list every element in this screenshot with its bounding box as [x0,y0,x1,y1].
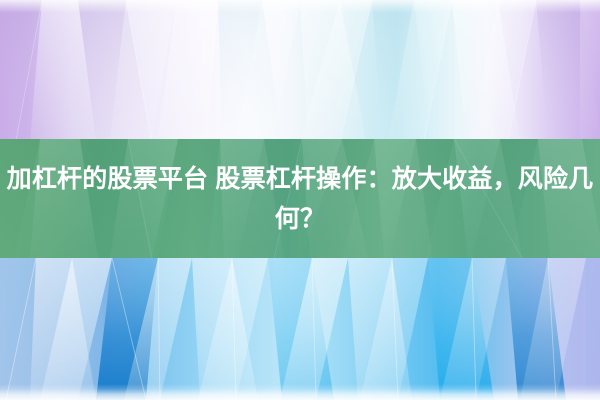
top-facet-pattern [0,0,600,141]
bottom-facet-pattern [0,258,600,400]
title-band: 加杠杆的股票平台 股票杠杆操作：放大收益，风险几何？ [0,139,600,258]
page-title: 加杠杆的股票平台 股票杠杆操作：放大收益，风险几何？ [0,159,600,239]
banner-image: 加杠杆的股票平台 股票杠杆操作：放大收益，风险几何？ [0,0,600,400]
bottom-gradient-zone [0,258,600,400]
top-gradient-zone [0,0,600,141]
